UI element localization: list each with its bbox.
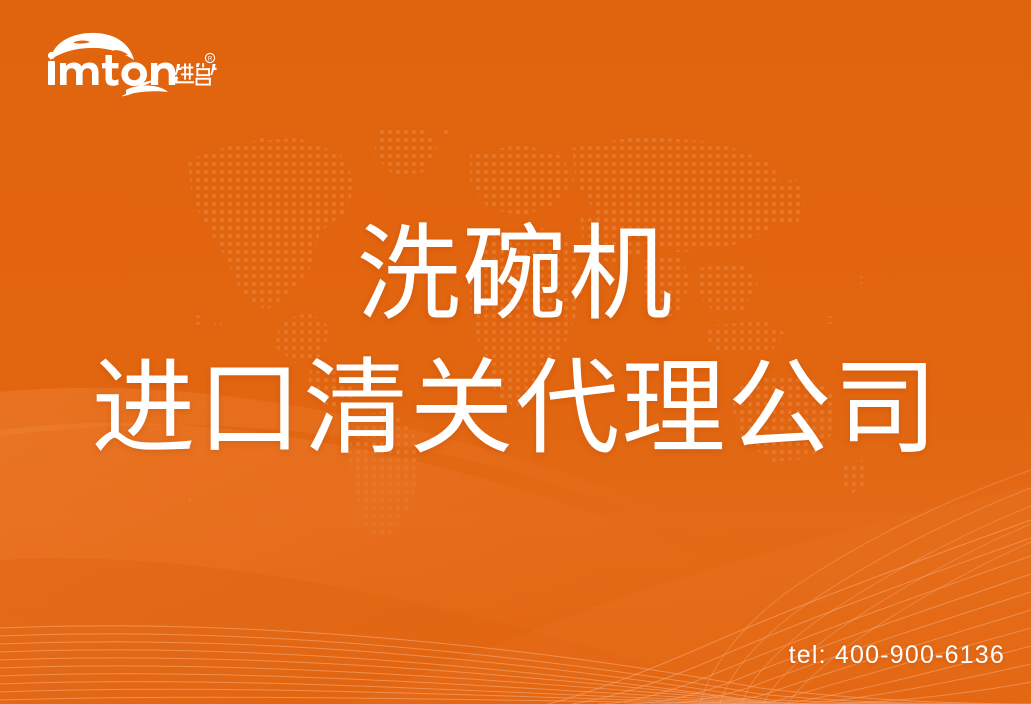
headline-line-2: 进口清关代理公司	[0, 356, 1031, 462]
headline-line-1: 洗碗机	[0, 222, 1031, 328]
page-title: 洗碗机 进口清关代理公司	[0, 222, 1031, 462]
trademark-icon: R	[205, 53, 214, 62]
imton-wordmark	[48, 52, 175, 86]
svg-text:R: R	[208, 57, 213, 63]
imton-logo[interactable]: R	[38, 30, 218, 98]
poster-canvas: R 洗碗机 进口清关代理公司 tel: 400-900-6136	[0, 0, 1031, 704]
logo-chinese-name	[174, 63, 216, 85]
contact-telephone[interactable]: tel: 400-900-6136	[789, 641, 1005, 670]
globe-dome-icon	[50, 33, 134, 60]
